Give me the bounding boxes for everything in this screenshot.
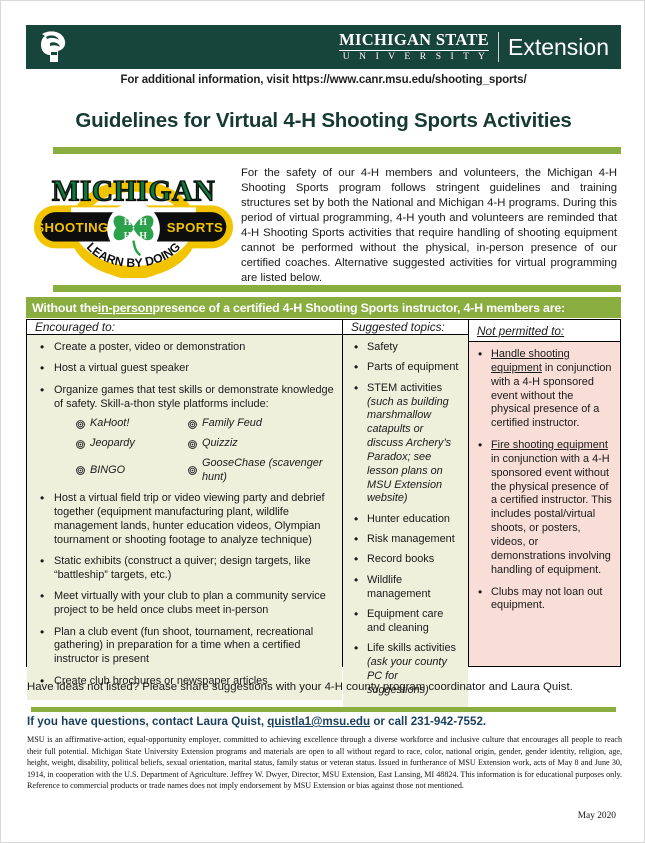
list-item: Record books xyxy=(349,553,462,567)
list-item: Host a virtual field trip or video viewi… xyxy=(33,492,336,547)
column-body-topics: Safety Parts of equipment STEM activitie… xyxy=(343,335,468,708)
intro-section: MICHIGAN SHOOTING SPORTS H H H H xyxy=(26,163,621,285)
column-suggested-topics: Suggested topics: Safety Parts of equipm… xyxy=(343,320,469,666)
topic-text: Hunter education xyxy=(367,513,450,525)
game-label: Family Feud xyxy=(202,417,262,431)
wordmark-extension: Extension xyxy=(508,36,609,59)
additional-information-url: For additional information, visit https:… xyxy=(1,74,645,86)
list-item: Handle shooting equipment in conjunction… xyxy=(475,348,614,431)
column-body-encouraged: Create a poster, video or demonstration … xyxy=(27,335,342,700)
list-item: Static exhibits (construct a quiver; des… xyxy=(33,555,336,583)
intro-paragraph: For the safety of our 4-H members and vo… xyxy=(241,163,621,286)
logo-word-sports: SPORTS xyxy=(167,220,223,235)
logo-word-shooting: SHOOTING xyxy=(35,220,108,235)
game-item: GooseChase (scavenger hunt) xyxy=(188,457,336,485)
msu-wordmark-text: MICHIGAN STATE U N I V E R S I T Y xyxy=(339,32,498,62)
list-item: Create a poster, video or demonstration xyxy=(33,341,336,355)
list-item: Wildlife management xyxy=(349,574,462,602)
game-item: BINGO xyxy=(76,457,184,485)
msu-header-bar: MICHIGAN STATE U N I V E R S I T Y Exten… xyxy=(26,25,621,69)
michigan-shooting-sports-logo: MICHIGAN SHOOTING SPORTS H H H H xyxy=(31,168,236,278)
page-title: Guidelines for Virtual 4-H Shooting Spor… xyxy=(1,109,645,133)
list-item-text: Organize games that test skills or demon… xyxy=(54,384,334,410)
banner-text-after: presence of a certified 4-H Shooting Spo… xyxy=(152,301,565,315)
four-h-clover-icon: H H H H xyxy=(107,203,160,256)
list-item: Plan a club event (fun shoot, tournament… xyxy=(33,626,336,668)
target-icon xyxy=(76,420,85,429)
topic-text: Parts of equipment xyxy=(367,361,458,373)
list-item: Meet virtually with your club to plan a … xyxy=(33,590,336,618)
column-encouraged: Encouraged to: Create a poster, video or… xyxy=(27,320,343,666)
msu-extension-wordmark: MICHIGAN STATE U N I V E R S I T Y Exten… xyxy=(339,27,613,67)
game-label: Jeopardy xyxy=(90,437,135,451)
spartan-helmet-icon xyxy=(36,28,70,66)
shooting-sports-logo-cell: MICHIGAN SHOOTING SPORTS H H H H xyxy=(26,163,241,278)
topic-text: Life skills activities xyxy=(367,642,456,654)
game-label: KaHoot! xyxy=(90,417,129,431)
topic-note: (such as building marshmallow catapults … xyxy=(367,396,451,505)
list-item: Risk management xyxy=(349,533,462,547)
topics-list: Safety Parts of equipment STEM activitie… xyxy=(349,341,462,698)
banner-text-before: Without the xyxy=(32,301,98,315)
column-heading-topics: Suggested topics: xyxy=(343,320,468,335)
svg-text:H: H xyxy=(139,217,147,228)
guidelines-table: Encouraged to: Create a poster, video or… xyxy=(26,319,621,667)
encouraged-list: Create a poster, video or demonstration … xyxy=(33,341,336,688)
publication-date: May 2020 xyxy=(578,811,616,821)
list-item: Safety xyxy=(349,341,462,355)
topic-text: Record books xyxy=(367,553,434,565)
column-not-permitted: Not permitted to: Handle shooting equipm… xyxy=(469,320,620,666)
wordmark-michigan-state: MICHIGAN STATE xyxy=(339,32,489,51)
game-item: Quizziz xyxy=(188,437,336,451)
contact-line: If you have questions, contact Laura Qui… xyxy=(27,715,627,728)
list-item: Fire shooting equipment in conjunction w… xyxy=(475,439,614,577)
topic-text: Risk management xyxy=(367,533,455,545)
footer-accent-rule xyxy=(31,707,616,712)
section-banner: Without the in-person presence of a cert… xyxy=(26,297,621,318)
wordmark-university: U N I V E R S I T Y xyxy=(339,51,489,63)
column-heading-encouraged: Encouraged to: xyxy=(27,320,342,335)
topic-text: STEM activities xyxy=(367,382,442,394)
contact-email-link[interactable]: quistla1@msu.edu xyxy=(267,715,370,728)
topic-text: Safety xyxy=(367,341,398,353)
restriction-rest: Clubs may not loan out equipment. xyxy=(491,586,602,612)
contact-text-after: or call 231-942-7552. xyxy=(370,715,486,728)
list-item: Host a virtual guest speaker xyxy=(33,362,336,376)
list-item: Equipment care and cleaning xyxy=(349,608,462,636)
game-item: Jeopardy xyxy=(76,437,184,451)
target-icon xyxy=(188,420,197,429)
contact-text-before: If you have questions, contact Laura Qui… xyxy=(27,715,267,728)
game-label: Quizziz xyxy=(202,437,238,451)
msu-disclaimer: MSU is an affirmative-action, equal-oppo… xyxy=(27,734,622,792)
game-label: BINGO xyxy=(90,464,125,478)
target-icon xyxy=(188,440,197,449)
restriction-lead: Fire shooting equipment xyxy=(491,439,608,451)
list-item: Organize games that test skills or demon… xyxy=(33,384,336,485)
list-item: Clubs may not loan out equipment. xyxy=(475,586,614,614)
target-icon xyxy=(76,440,85,449)
not-permitted-list: Handle shooting equipment in conjunction… xyxy=(475,348,614,613)
list-item: Parts of equipment xyxy=(349,361,462,375)
game-item: Family Feud xyxy=(188,417,336,431)
document-page: MICHIGAN STATE U N I V E R S I T Y Exten… xyxy=(0,0,645,843)
game-platform-grid: KaHoot! Family Feud xyxy=(76,417,336,484)
list-item: Hunter education xyxy=(349,513,462,527)
have-ideas-line: Have ideas not listed? Please share sugg… xyxy=(27,681,627,693)
wordmark-divider xyxy=(498,32,499,62)
target-icon xyxy=(76,466,85,475)
column-heading-not-permitted: Not permitted to: xyxy=(469,320,620,342)
topic-text: Equipment care and cleaning xyxy=(367,608,443,634)
target-icon xyxy=(188,466,197,475)
intro-bottom-accent-rule xyxy=(53,285,621,292)
svg-text:H: H xyxy=(124,231,132,242)
game-item: KaHoot! xyxy=(76,417,184,431)
restriction-rest: in conjunction with a 4-H sponsored even… xyxy=(491,453,612,576)
list-item: STEM activities (such as building marshm… xyxy=(349,382,462,507)
svg-text:H: H xyxy=(124,217,132,228)
column-body-not-permitted: Handle shooting equipment in conjunction… xyxy=(469,342,620,666)
game-label: GooseChase (scavenger hunt) xyxy=(202,457,336,485)
banner-text-underlined: in-person xyxy=(98,301,153,315)
svg-text:H: H xyxy=(139,231,147,242)
topic-text: Wildlife management xyxy=(367,574,431,600)
top-accent-rule xyxy=(53,147,621,154)
